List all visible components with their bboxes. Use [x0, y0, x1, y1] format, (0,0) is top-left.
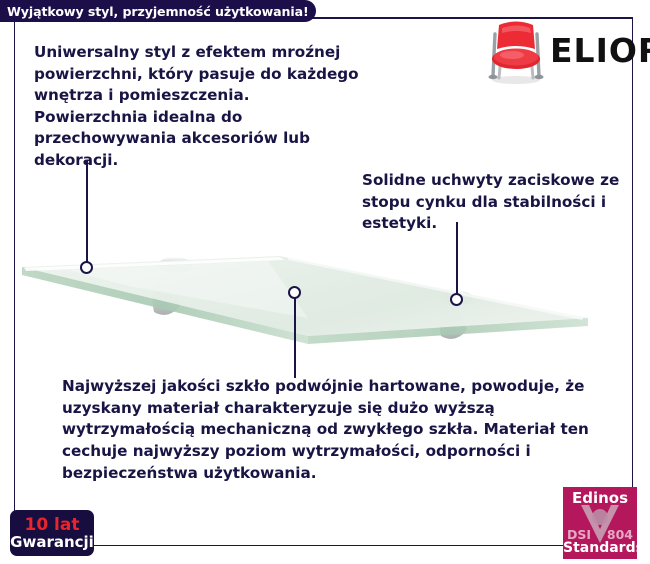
edinos-standards-badge: Edinos DSI 804 Standards — [563, 487, 637, 559]
red-chair-icon — [484, 16, 548, 86]
headline-banner: Wyjątkowy styl, przyjemność użytkowania! — [0, 0, 316, 22]
edinos-subtitle: Standards — [563, 540, 637, 556]
leader-line-right — [456, 222, 458, 302]
callout-dot-top-left — [80, 261, 93, 274]
headline-text: Wyjątkowy styl, przyjemność użytkowania! — [0, 4, 309, 19]
callout-text-right: Solidne uchwyty zaciskowe ze stopu cynku… — [362, 170, 630, 235]
callout-text-top-left: Uniwersalny styl z efektem mroźnej powie… — [34, 42, 364, 171]
callout-dot-right — [450, 293, 463, 306]
callout-text-bottom: Najwyższej jakości szkło podwójnie harto… — [62, 376, 602, 485]
callout-dot-bottom — [288, 286, 301, 299]
brand-wordmark: ELIOR — [550, 34, 650, 67]
leader-line-bottom — [294, 296, 296, 378]
leader-line-top-left — [86, 160, 88, 268]
warranty-years: 10 lat — [24, 516, 79, 534]
glass-shelf-image — [8, 246, 608, 356]
warranty-badge: 10 lat Gwarancji — [10, 510, 94, 556]
warranty-label: Gwarancji — [10, 534, 94, 550]
promo-banner-canvas: Wyjątkowy styl, przyjemność użytkowania!… — [0, 0, 650, 564]
brand-logo: ELIOR — [484, 16, 634, 88]
